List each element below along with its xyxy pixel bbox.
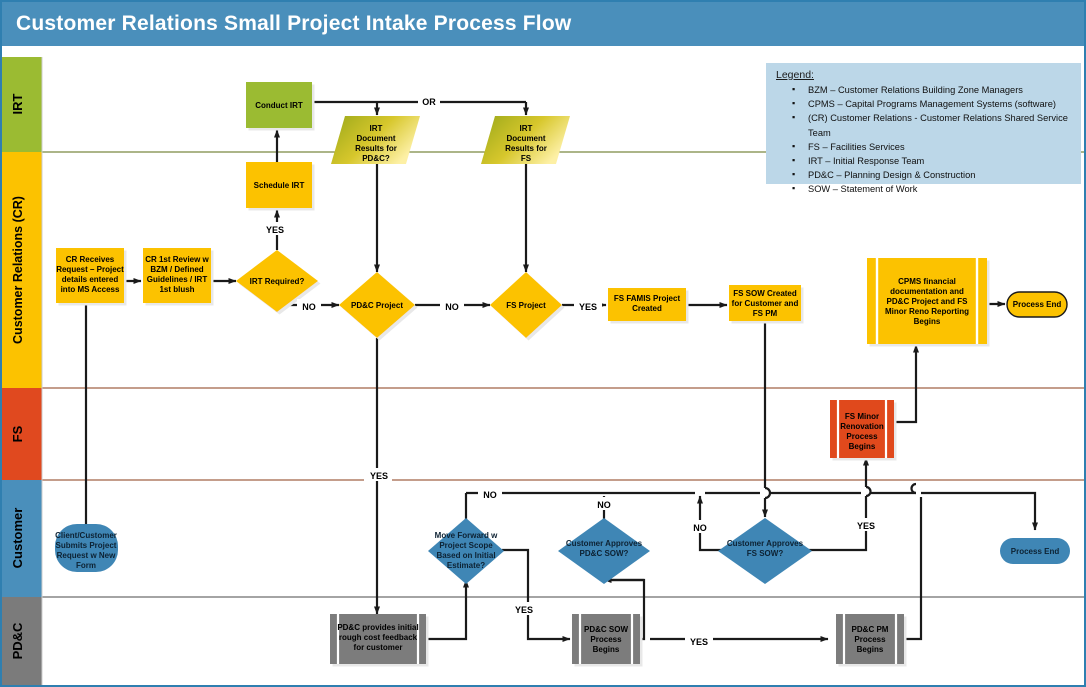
legend-item: SOW – Statement of Work: [792, 182, 1081, 196]
lane-label-pdc: PD&C: [10, 622, 25, 659]
legend-item: PD&C – Planning Design & Construction: [792, 168, 1081, 182]
node-label-line: Project Scope: [439, 541, 493, 550]
node-label-line: PD&C PM: [852, 625, 889, 634]
node-label-line: Renovation: [840, 422, 884, 431]
node-label: Conduct IRT: [255, 101, 303, 110]
edge-label-move-forward-no: NO: [483, 490, 497, 500]
node-pdc-pm-process[interactable]: PD&C PM Process Begins: [836, 614, 904, 664]
node-label-line: FS SOW Created: [733, 289, 797, 298]
node-label-line: FS PM: [753, 309, 778, 318]
node-cr-first-review[interactable]: CR 1st Review w BZM / Defined Guidelines…: [143, 248, 211, 303]
legend-item: BZM – Customer Relations Building Zone M…: [792, 83, 1081, 97]
node-label-line: documentation and: [890, 287, 964, 296]
node-label: FS Project: [506, 301, 546, 310]
node-process-end-customer[interactable]: Process End: [1000, 538, 1070, 564]
node-label-line: Document: [506, 134, 545, 143]
edge-label-pdc-sow-yes: YES: [690, 637, 708, 647]
legend-item: IRT – Initial Response Team: [792, 154, 1081, 168]
node-label-line: into MS Access: [61, 285, 120, 294]
node-label-line: FS Minor: [845, 412, 879, 421]
edge-label-fs-sow-no: NO: [693, 523, 707, 533]
node-label-line: Process: [590, 635, 622, 644]
node-label-line: Begins: [857, 645, 884, 654]
node-label-line: Move Forward w: [435, 531, 498, 540]
node-label: IRT Required?: [250, 277, 305, 286]
node-label-line: details entered: [62, 275, 119, 284]
node-label-line: for Customer and: [732, 299, 799, 308]
node-label-line: Based on Initial: [436, 551, 495, 560]
node-label-line: PD&C provides initial: [337, 623, 418, 632]
node-label-line: Request w New: [57, 551, 116, 560]
node-label-line: Begins: [914, 317, 941, 326]
node-label-line: Created: [632, 304, 662, 313]
node-fs-minor-reno[interactable]: FS Minor Renovation Process Begins: [830, 400, 894, 458]
edge-label-pdc-project-yes: YES: [370, 471, 388, 481]
edge-label-pdc-sow-no: NO: [597, 500, 611, 510]
edge-label-fs-sow-yes: YES: [857, 521, 875, 531]
node-pdc-rough-cost[interactable]: PD&C provides initial rough cost feedbac…: [330, 614, 426, 664]
node-label-line: rough cost feedback: [339, 633, 418, 642]
legend-panel: Legend: BZM – Customer Relations Buildin…: [766, 63, 1081, 184]
node-schedule-irt[interactable]: Schedule IRT: [246, 162, 312, 208]
node-label-line: FS: [521, 154, 532, 163]
edge-label-fs-project-yes: YES: [579, 302, 597, 312]
node-label-line: FS SOW?: [747, 549, 784, 558]
process-flow-diagram: Customer Relations Small Project Intake …: [0, 0, 1086, 687]
legend-title: Legend:: [776, 69, 1081, 81]
node-label-line: Results for: [505, 144, 547, 153]
node-label-line: for customer: [354, 643, 403, 652]
lane-label-fs: FS: [10, 425, 25, 442]
node-label-line: Request – Project: [56, 265, 124, 274]
node-label-line: PD&C SOW?: [580, 549, 629, 558]
node-irt-doc-pdc[interactable]: IRT Document Results for PD&C?: [331, 116, 420, 164]
node-label-line: BZM / Defined: [150, 265, 203, 274]
node-label-line: Estimate?: [447, 561, 485, 570]
node-label-line: Client/Customer: [55, 531, 117, 540]
node-label-line: PD&C Project and FS: [887, 297, 969, 306]
node-cpms-financial[interactable]: CPMS financial documentation and PD&C Pr…: [867, 258, 987, 344]
edge-label-move-forward-yes: YES: [515, 605, 533, 615]
node-label: PD&C Project: [351, 301, 403, 310]
node-label-line: Minor Reno Reporting: [885, 307, 969, 316]
edge-label-or: OR: [422, 97, 436, 107]
lane-label-cr: Customer Relations (CR): [11, 196, 25, 344]
node-label-line: Begins: [593, 645, 620, 654]
node-label-line: Document: [356, 134, 395, 143]
node-label-line: Customer Approves: [727, 539, 804, 548]
node-pdc-sow-process[interactable]: PD&C SOW Process Begins: [572, 614, 640, 664]
node-label-line: FS FAMIS Project: [614, 294, 681, 303]
node-cr-receives[interactable]: CR Receives Request – Project details en…: [56, 248, 124, 303]
node-fs-sow-created[interactable]: FS SOW Created for Customer and FS PM: [729, 285, 801, 321]
lane-label-irt: IRT: [10, 93, 25, 114]
node-label-line: Form: [76, 561, 96, 570]
legend-item: FS – Facilities Services: [792, 140, 1081, 154]
node-label: Schedule IRT: [254, 181, 305, 190]
node-label-line: Guidelines / IRT: [147, 275, 208, 284]
node-label-line: Submits Project: [56, 541, 117, 550]
node-label-line: Process: [854, 635, 886, 644]
node-label: Process End: [1011, 547, 1060, 556]
legend-item: CPMS – Capital Programs Management Syste…: [792, 97, 1081, 111]
node-label-line: 1st blush: [159, 285, 194, 294]
node-fs-famis[interactable]: FS FAMIS Project Created: [608, 288, 686, 321]
legend-list: BZM – Customer Relations Building Zone M…: [766, 83, 1081, 197]
node-label-line: CR Receives: [66, 255, 115, 264]
node-client-submits[interactable]: Client/Customer Submits Project Request …: [55, 524, 118, 572]
node-label-line: PD&C?: [362, 154, 390, 163]
node-label-line: Process: [846, 432, 878, 441]
legend-item: (CR) Customer Relations - Customer Relat…: [792, 111, 1081, 139]
node-label: Process End: [1013, 300, 1062, 309]
edge-label-irt-required-no: NO: [302, 302, 316, 312]
edge-label-irt-required-yes: YES: [266, 225, 284, 235]
node-label-line: PD&C SOW: [584, 625, 628, 634]
lane-label-customer: Customer: [10, 508, 25, 569]
node-label-line: Results for: [355, 144, 397, 153]
node-label-line: CR 1st Review w: [145, 255, 209, 264]
node-irt-doc-fs[interactable]: IRT Document Results for FS: [481, 116, 570, 164]
node-label-line: Customer Approves: [566, 539, 643, 548]
node-label-line: CPMS financial: [898, 277, 956, 286]
node-label-line: Begins: [849, 442, 876, 451]
node-conduct-irt[interactable]: Conduct IRT: [246, 82, 312, 128]
node-process-end-cr[interactable]: Process End: [1007, 292, 1067, 317]
node-label-line: IRT: [520, 124, 533, 133]
edge-label-pdc-project-no: NO: [445, 302, 459, 312]
node-label-line: IRT: [370, 124, 383, 133]
